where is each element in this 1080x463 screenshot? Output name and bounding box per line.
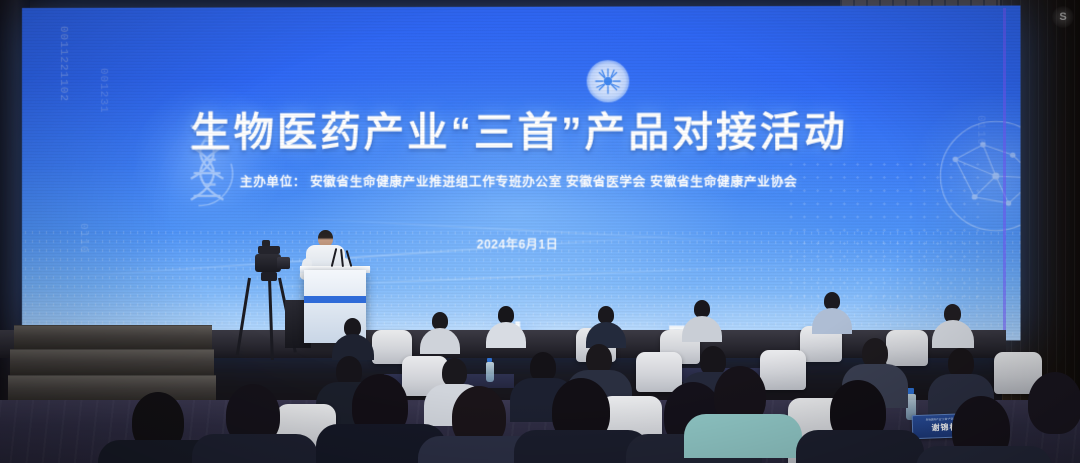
water-bottle-cap	[487, 358, 492, 362]
dot-grid-graphic	[784, 158, 989, 310]
city-lights-specks	[22, 228, 1020, 340]
stage-step-3	[8, 375, 216, 403]
attendee-head	[442, 358, 467, 387]
molecule-network-icon	[932, 113, 1020, 239]
attendee-shoulders	[796, 430, 924, 463]
attendee-shoulders	[192, 434, 318, 463]
event-emblem	[587, 60, 630, 102]
radiating-cell-icon	[587, 60, 630, 102]
attendee-shoulders	[684, 414, 802, 458]
decor-digits-right: 0110	[973, 115, 986, 206]
city-skyline-graphic	[22, 218, 1020, 340]
event-organizers: 主办单位： 安徽省生命健康产业推进组工作专班办公室 安徽省医学会 安徽省生命健康…	[22, 171, 1020, 190]
event-title: 生物医药产业“三首”产品对接活动	[22, 99, 1020, 158]
chair	[760, 350, 806, 390]
event-date: 2024年6月1日	[22, 235, 1020, 253]
light-sweep-1	[63, 232, 708, 278]
light-sweep-3	[283, 217, 810, 247]
decor-digits-left-3: 0110	[76, 223, 89, 303]
attendee-head	[1028, 372, 1080, 434]
molecule-glow-halo	[914, 95, 1021, 258]
water-bottle-cap	[907, 388, 914, 394]
decor-digits-left: 0011221102	[56, 26, 69, 156]
corner-watermark: S	[1052, 6, 1074, 28]
chair	[636, 352, 682, 392]
camera-lens	[277, 257, 290, 269]
conference-photo-scene: 0011221102 001231 0110 0110	[0, 0, 1080, 463]
chair	[886, 330, 928, 366]
decor-digits-left-2: 001231	[96, 68, 109, 163]
water-bottle	[486, 362, 494, 382]
dna-helix-icon	[162, 118, 258, 213]
tripod-head	[261, 272, 277, 281]
led-backdrop-screen: 0011221102 001231 0110 0110	[22, 6, 1020, 341]
podium-accent-band	[304, 296, 366, 303]
dna-glow-halo	[134, 86, 285, 237]
stage-step-2	[10, 349, 214, 375]
emblem-ring	[587, 60, 630, 102]
stage-step-1	[14, 325, 212, 349]
attendee-shoulders	[916, 446, 1052, 463]
camera-hood	[258, 246, 280, 254]
